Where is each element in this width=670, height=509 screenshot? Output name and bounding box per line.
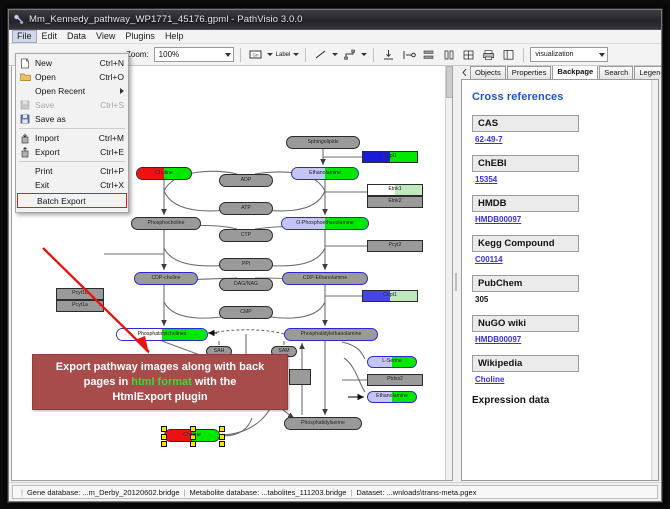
xref-value-row[interactable]: Choline [475, 375, 648, 384]
menu-item-new-accel: Ctrl+N [92, 58, 124, 68]
status-gene-database: Gene database: ...m_Derby_20120602.bridg… [27, 488, 180, 497]
canvas-scroll-thumb[interactable] [446, 66, 453, 98]
pathway-node-label: ADP [241, 178, 252, 183]
toolbar-separator [305, 48, 306, 62]
menubar[interactable]: File Edit Data View Plugins Help [9, 30, 661, 44]
menu-item-save[interactable]: Save Ctrl+S [16, 98, 128, 112]
menu-help[interactable]: Help [160, 30, 189, 43]
backpage-content: Cross references CAS62-49-7ChEBI15354HMD… [462, 80, 658, 406]
selection-handle[interactable] [219, 426, 225, 432]
pathway-node-label: CMP [240, 310, 252, 315]
export-icon [18, 146, 32, 158]
menu-item-open-label: Open [32, 72, 91, 82]
line-dropdown-icon[interactable] [332, 53, 338, 56]
blank-icon [20, 195, 34, 207]
menu-item-import[interactable]: Import Ctrl+M [16, 131, 128, 145]
menu-item-batch-export-label: Batch Export [34, 196, 122, 206]
menu-data[interactable]: Data [62, 30, 91, 43]
pathway-gene-label: Pcyt2 [389, 243, 402, 248]
screenshot-root: Mm_Kennedy_pathway_WP1771_45176.gpml - P… [0, 0, 670, 509]
menu-item-import-accel: Ctrl+M [91, 133, 124, 143]
xref-value-row[interactable]: HMDB00097 [475, 215, 648, 224]
menu-plugins[interactable]: Plugins [120, 30, 160, 43]
pathway-node-label: Choline [183, 433, 201, 438]
visualization-value: visualization [535, 51, 573, 58]
menu-separator [19, 128, 125, 129]
menu-item-open-recent[interactable]: Open Recent [16, 84, 128, 98]
pathway-node-label: O-Phosphoethanolamine [296, 221, 353, 226]
menu-item-open-recent-label: Open Recent [32, 86, 120, 96]
pathway-gene-etnk2[interactable]: Etnk2 [367, 196, 423, 208]
label-tool-label[interactable]: Label [276, 52, 291, 58]
menu-item-new-label: New [32, 58, 92, 68]
tab-search[interactable]: Search [599, 66, 633, 79]
print-icon[interactable] [480, 46, 497, 63]
menu-item-print[interactable]: Print Ctrl+P [16, 164, 128, 178]
pathway-node-label: Phosphocholine [148, 221, 185, 226]
align-top-icon[interactable] [380, 46, 397, 63]
annotation-line-2: pages in html format with the [84, 375, 237, 390]
xref-value-row[interactable]: C00114 [475, 255, 648, 264]
xref-db-label-cas: CAS [472, 115, 579, 132]
pathway-gene-ptdss2[interactable]: Ptdss2 [367, 374, 423, 386]
annotation-line-1: Export pathway images along with back [56, 360, 264, 375]
pathway-node-label: Ethanolamine [376, 394, 408, 399]
menu-item-batch-export[interactable]: Batch Export [17, 193, 127, 208]
blank-icon [18, 179, 32, 191]
xref-link-kegg-compound[interactable]: C00114 [475, 255, 503, 264]
pathway-node-sphingolipids[interactable]: Sphingolipids [286, 136, 360, 149]
pathway-node-dag-nag[interactable]: DAG/NAG [219, 278, 273, 291]
menu-item-print-label: Print [32, 166, 92, 176]
pathway-node-cdp-ethanolamine[interactable]: CDP-Ethanolamine [282, 272, 368, 285]
blank-icon [18, 165, 32, 177]
status-dataset: Dataset: ...wnloads\trans-meta.pgex [356, 488, 476, 497]
application-window: Mm_Kennedy_pathway_WP1771_45176.gpml - P… [8, 9, 662, 502]
menu-item-new[interactable]: New Ctrl+N [16, 56, 128, 70]
xref-link-nugo-wiki[interactable]: HMDB00097 [475, 335, 521, 344]
status-divider: | [180, 488, 190, 497]
save-disk-icon [18, 99, 32, 111]
pathway-node-adp[interactable]: ADP [219, 174, 273, 187]
pathway-node-ethanolamine-right[interactable]: Ethanolamine [367, 391, 417, 403]
backpage-panel[interactable]: Cross references CAS62-49-7ChEBI15354HMD… [461, 79, 659, 481]
pathway-node-label: Sphingolipids [308, 140, 339, 145]
toolbar-separator [523, 48, 524, 62]
xref-link-chebi[interactable]: 15354 [475, 175, 497, 184]
xref-value-row[interactable]: HMDB00097 [475, 335, 648, 344]
selection-handle[interactable] [161, 426, 167, 432]
expression-data-title: Expression data [472, 395, 648, 406]
pathway-gene-label: Ptdss2 [387, 377, 403, 382]
xref-db-label-kegg-compound: Kegg Compound [472, 235, 579, 252]
xref-value-row[interactable]: 15354 [475, 175, 648, 184]
menu-item-print-accel: Ctrl+P [92, 166, 124, 176]
file-menu-dropdown[interactable]: New Ctrl+N Open Ctrl+O Open Recent Save [15, 53, 129, 213]
menu-separator [19, 161, 125, 162]
line-tool-icon[interactable] [312, 46, 329, 63]
side-panel-tabstrip[interactable]: Objects Properties Backpage Search Legen… [459, 65, 659, 79]
xref-db-label-wikipedia: Wikipedia [472, 355, 579, 372]
menu-item-exit-accel: Ctrl+X [92, 180, 124, 190]
zoom-label: Zoom: [126, 50, 149, 59]
splitter-grip[interactable] [455, 273, 457, 291]
pathway-node-label: Choline [155, 171, 173, 176]
menu-item-save-as-label: Save as [32, 114, 116, 124]
pathway-node-o-phosphoethanolamine[interactable]: O-Phosphoethanolamine [281, 217, 369, 230]
tab-legend[interactable]: Legend [634, 66, 662, 79]
toolbar-separator [373, 48, 374, 62]
selection-handle[interactable] [190, 441, 196, 447]
menu-item-open-accel: Ctrl+O [91, 72, 124, 82]
align-left-icon[interactable] [400, 46, 417, 63]
stack-vertical-icon[interactable] [420, 46, 437, 63]
status-fields: | Gene database: ...m_Derby_20120602.bri… [12, 485, 658, 499]
new-document-icon [18, 57, 32, 69]
datanode-dropdown-icon[interactable] [267, 53, 273, 56]
status-divider: | [346, 488, 356, 497]
common-size-icon[interactable] [460, 46, 477, 63]
tab-backpage[interactable]: Backpage [552, 64, 598, 79]
pathway-node-label: L-Serine [382, 359, 402, 364]
pathway-node-phosphatidylserine[interactable]: Phosphatidylserine [284, 417, 362, 430]
tab-scroll-left-icon[interactable] [461, 67, 468, 77]
window-title: Mm_Kennedy_pathway_WP1771_45176.gpml - P… [29, 14, 303, 25]
menu-edit[interactable]: Edit [37, 30, 63, 43]
xref-value-row[interactable]: 62-49-7 [475, 135, 648, 144]
open-folder-icon [18, 71, 32, 83]
pathway-node-ctp[interactable]: CTP [219, 229, 273, 242]
pathway-gene-label: Cept1 [383, 293, 397, 298]
visualization-combo[interactable]: visualization [530, 47, 608, 62]
status-metabolite-database: Metabolite database: ...tabolites_111203… [190, 488, 347, 497]
pathway-gene-pcyt2[interactable]: Pcyt2 [367, 240, 423, 252]
blank-icon [18, 85, 32, 97]
menu-item-import-label: Import [32, 133, 91, 143]
xref-link-wikipedia[interactable]: Choline [475, 375, 504, 384]
xref-db-label-pubchem: PubChem [472, 275, 579, 292]
backpage-vertical-scrollbar[interactable] [651, 80, 658, 480]
pathway-gene-etnk1[interactable]: Etnk1 [367, 184, 423, 196]
pathway-node-label: CDP-Ethanolamine [303, 276, 347, 281]
interaction-dropdown-icon[interactable] [361, 53, 367, 56]
pathway-node-ppi[interactable]: PPi [219, 258, 273, 271]
xref-link-cas[interactable]: 62-49-7 [475, 135, 503, 144]
menu-item-save-accel: Ctrl+S [92, 100, 124, 110]
pathvisio-app-icon [13, 14, 24, 25]
cross-references-title: Cross references [472, 91, 648, 103]
annotation-line-2-a: pages in [84, 376, 132, 388]
pathway-node-phosphatidylethanolamine[interactable]: Phosphatidylethanolamine [284, 328, 378, 341]
side-panel: Objects Properties Backpage Search Legen… [459, 65, 659, 481]
annotation-callout: Export pathway images along with back pa… [32, 354, 288, 410]
datanode-tool-icon[interactable]: Gn [247, 46, 264, 63]
pathway-node-cmp[interactable]: CMP [219, 306, 273, 319]
zoom-combo[interactable]: 100% [154, 47, 234, 62]
pathway-node-label: Ethanolamine [309, 171, 341, 176]
toolbar-separator [240, 48, 241, 62]
annotation-line-3: HtmlExport plugin [112, 390, 207, 405]
zoom-value: 100% [159, 50, 179, 59]
pathway-gene-chka[interactable] [289, 369, 311, 385]
label-dropdown-icon[interactable] [293, 53, 299, 56]
menu-item-open[interactable]: Open Ctrl+O [16, 70, 128, 84]
xref-db-label-chebi: ChEBI [472, 155, 579, 172]
pathway-node-label: Phosphatidylserine [301, 421, 345, 426]
properties-panel-icon[interactable] [500, 46, 517, 63]
tab-properties[interactable]: Properties [507, 66, 552, 79]
submenu-arrow-icon [120, 88, 124, 94]
pathway-node-label: Phosphatidylethanolamine [301, 332, 362, 337]
statusbar: | Gene database: ...m_Derby_20120602.bri… [9, 482, 661, 501]
pathway-node-phosphocholine[interactable]: Phosphocholine [131, 217, 201, 230]
menu-view[interactable]: View [91, 30, 120, 43]
menu-item-exit[interactable]: Exit Ctrl+X [16, 178, 128, 192]
pathway-node-atp[interactable]: ATP [219, 202, 273, 215]
tab-objects[interactable]: Objects [470, 66, 506, 79]
pathway-gene-label: Sgpl1 [383, 154, 396, 159]
canvas-vertical-scrollbar[interactable] [445, 66, 452, 480]
xref-value-pubchem: 305 [475, 295, 648, 304]
pathway-gene-sgpl1[interactable]: Sgpl1 [362, 151, 418, 163]
pathway-gene-cept1[interactable]: Cept1 [362, 290, 418, 302]
menu-item-exit-label: Exit [32, 180, 92, 190]
menu-item-export[interactable]: Export Ctrl+E [16, 145, 128, 159]
menu-file[interactable]: File [12, 30, 37, 43]
menu-item-export-accel: Ctrl+E [92, 147, 124, 157]
annotation-line-2-b: with the [192, 376, 237, 388]
menu-item-save-label: Save [32, 100, 92, 110]
status-divider: | [17, 488, 27, 497]
svg-text:Gn: Gn [252, 53, 259, 58]
window-titlebar: Mm_Kennedy_pathway_WP1771_45176.gpml - P… [9, 10, 661, 30]
selection-handle[interactable] [161, 441, 167, 447]
menu-item-export-label: Export [32, 147, 92, 157]
chevron-down-icon [225, 53, 231, 57]
pathway-node-label: PPi [242, 262, 250, 267]
selection-handle[interactable] [219, 434, 225, 440]
pathway-node-choline-top[interactable]: Choline [136, 167, 192, 180]
xref-db-label-hmdb: HMDB [472, 195, 579, 212]
selection-handle[interactable] [161, 434, 167, 440]
chevron-down-icon [599, 53, 605, 57]
annotation-highlight: html format [131, 376, 192, 388]
cross-reference-list: CAS62-49-7ChEBI15354HMDBHMDB00097Kegg Co… [472, 115, 648, 384]
pathway-node-label: DAG/NAG [234, 282, 258, 287]
xref-db-label-nugo-wiki: NuGO wiki [472, 315, 579, 332]
import-icon [18, 132, 32, 144]
pathway-node-l-serine[interactable]: L-Serine [367, 356, 417, 368]
common-width-icon[interactable] [440, 46, 457, 63]
pathway-gene-label: Etnk1 [388, 187, 401, 192]
menu-item-save-as[interactable]: Save as [16, 112, 128, 126]
selection-handle[interactable] [219, 441, 225, 447]
xref-link-hmdb[interactable]: HMDB00097 [475, 215, 521, 224]
pathway-node-label: ATP [241, 206, 251, 211]
interaction-tool-icon[interactable] [341, 46, 358, 63]
pathway-node-label: CTP [241, 233, 251, 238]
pathway-gene-label: Etnk2 [388, 199, 401, 204]
save-as-icon [18, 113, 32, 125]
pathway-node-ethanolamine-top[interactable]: Ethanolamine [291, 167, 359, 180]
